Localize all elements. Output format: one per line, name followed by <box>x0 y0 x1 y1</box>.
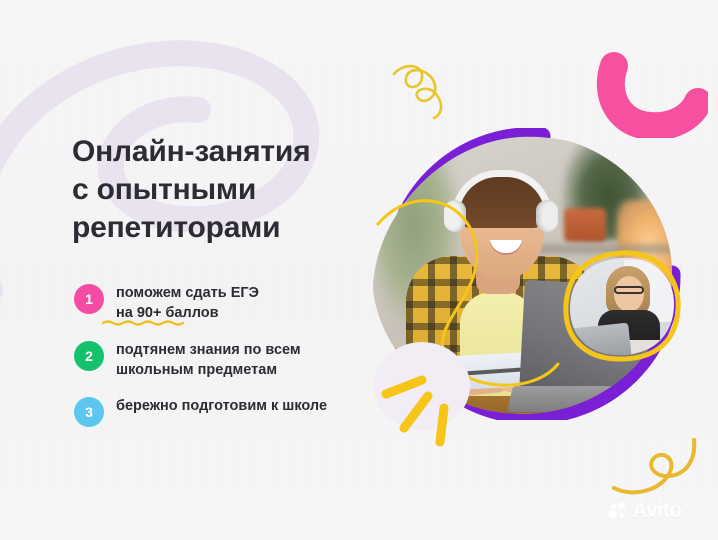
avito-watermark: Avito <box>608 500 682 521</box>
bullet-text: подтянем знания по всем школьным предмет… <box>116 340 301 381</box>
wavy-underline-icon <box>102 319 188 326</box>
yellow-loop-decoration <box>608 432 704 498</box>
bullet-number-badge: 2 <box>74 341 104 371</box>
avito-label: Avito <box>632 500 682 521</box>
bullet-text: бережно подготовим к школе <box>116 396 327 417</box>
bullet-number-badge: 3 <box>74 397 104 427</box>
bullet-text: поможем сдать ЕГЭ на 90+ баллов <box>116 283 259 324</box>
bullet-number-badge: 1 <box>74 284 104 314</box>
benefits-list: 1 поможем сдать ЕГЭ на 90+ баллов 2 подт… <box>74 283 404 427</box>
avito-banner: Онлайн-занятия с опытными репетиторами 1… <box>0 0 718 540</box>
pink-crescent-decoration <box>588 52 708 138</box>
tutor-inset-photo <box>562 250 682 362</box>
list-item: 1 поможем сдать ЕГЭ на 90+ баллов <box>74 283 404 324</box>
avito-dots-icon <box>608 501 627 520</box>
list-item: 3 бережно подготовим к школе <box>74 396 404 427</box>
list-item: 2 подтянем знания по всем школьным предм… <box>74 340 404 381</box>
student-photo <box>372 128 692 420</box>
yellow-spiral-decoration <box>390 60 470 122</box>
page-title: Онлайн-занятия с опытными репетиторами <box>72 133 372 247</box>
